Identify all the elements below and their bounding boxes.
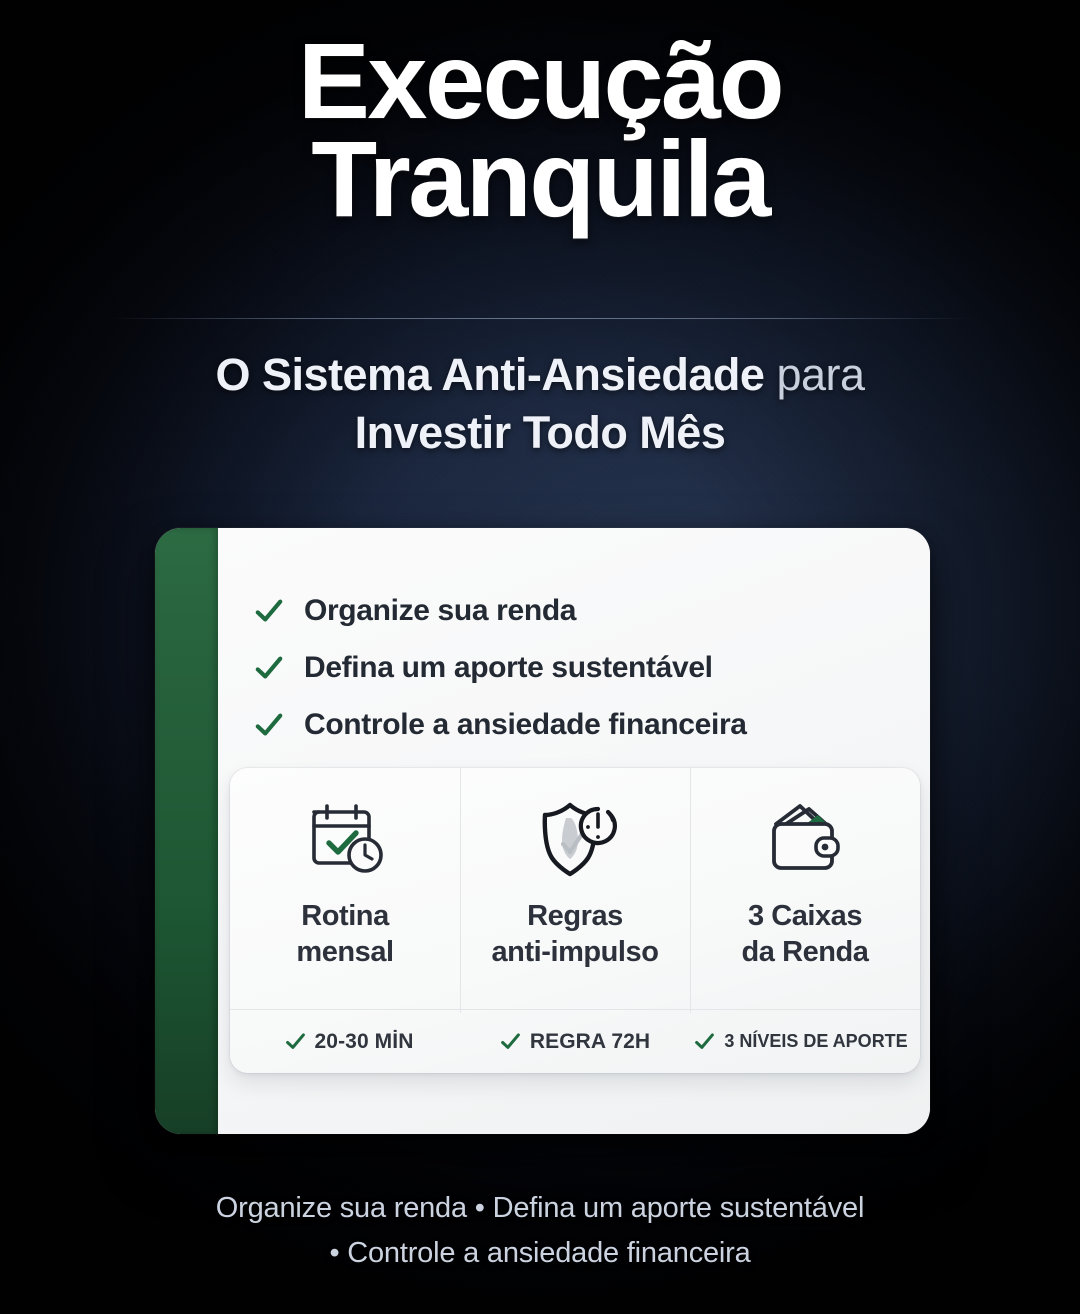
check-icon bbox=[500, 1031, 521, 1052]
feature-title-line-1: Regras bbox=[527, 900, 623, 932]
check-icon bbox=[694, 1031, 715, 1052]
check-icon bbox=[254, 653, 284, 683]
features-badge-row: 20-30 MİN REGRA 72H 3 NÍVEIS DE APORTE bbox=[230, 1009, 920, 1073]
checklist-label: Defina um aporte sustentável bbox=[304, 651, 713, 685]
feature-title-line-1: 3 Caixas bbox=[748, 900, 862, 932]
badge-label: 3 NÍVEIS DE APORTE bbox=[724, 1031, 907, 1052]
check-icon bbox=[254, 710, 284, 740]
checklist-label: Organize sua renda bbox=[304, 594, 576, 628]
check-icon bbox=[285, 1031, 306, 1052]
feature-card: Organize sua renda Defina um aporte sust… bbox=[155, 528, 930, 1134]
checklist-label: Controle a ansiedade financeira bbox=[304, 708, 747, 742]
subtitle-line-2: Investir Todo Mês bbox=[0, 404, 1080, 462]
feature-column-caixas: 3 Caixas da Renda bbox=[690, 784, 920, 1009]
feature-title-line-2: da Renda bbox=[742, 936, 869, 968]
feature-title: Rotina mensal bbox=[296, 898, 393, 970]
feature-title-line-2: mensal bbox=[296, 936, 393, 968]
footer-line-2: • Controle a ansiedade financeira bbox=[0, 1231, 1080, 1276]
feature-title: Regras anti-impulso bbox=[492, 898, 659, 970]
list-item: Organize sua renda bbox=[254, 582, 902, 639]
calendar-check-clock-icon bbox=[302, 794, 388, 886]
header-divider bbox=[110, 318, 970, 319]
status-badge: 20-30 MİN bbox=[236, 1030, 462, 1054]
features-panel: Rotina mensal bbox=[230, 768, 920, 1073]
list-item: Defina um aporte sustentável bbox=[254, 639, 902, 696]
card-accent-stripe bbox=[155, 528, 218, 1134]
feature-column-rotina: Rotina mensal bbox=[230, 784, 460, 1009]
page-title: Execução Tranquila bbox=[0, 32, 1080, 228]
check-icon bbox=[254, 596, 284, 626]
badge-label: REGRA 72H bbox=[530, 1030, 650, 1054]
feature-column-regras: Regras anti-impulso bbox=[460, 784, 690, 1009]
status-badge: REGRA 72H bbox=[462, 1030, 688, 1054]
status-badge: 3 NÍVEIS DE APORTE bbox=[688, 1031, 914, 1052]
page-title-line-1: Execução bbox=[0, 32, 1080, 130]
benefit-checklist: Organize sua renda Defina um aporte sust… bbox=[254, 582, 902, 753]
feature-title-line-2: anti-impulso bbox=[492, 936, 659, 968]
shield-check-timer-icon bbox=[532, 794, 618, 886]
subtitle-strong: O Sistema Anti-Ansiedade bbox=[215, 349, 764, 400]
footer-line-1: Organize sua renda • Defina um aporte su… bbox=[216, 1192, 864, 1224]
feature-title: 3 Caixas da Renda bbox=[742, 898, 869, 970]
badge-label: 20-30 MİN bbox=[315, 1030, 414, 1054]
page-title-line-2: Tranquila bbox=[0, 130, 1080, 228]
poster-stage: Execução Tranquila O Sistema Anti-Ansied… bbox=[0, 0, 1080, 1314]
wallet-cards-icon bbox=[762, 794, 848, 886]
page-subtitle: O Sistema Anti-Ansiedade para Investir T… bbox=[0, 346, 1080, 462]
list-item: Controle a ansiedade financeira bbox=[254, 696, 902, 753]
features-columns: Rotina mensal bbox=[230, 768, 920, 1009]
subtitle-light: para bbox=[764, 349, 864, 400]
feature-title-line-1: Rotina bbox=[301, 900, 389, 932]
card-body: Organize sua renda Defina um aporte sust… bbox=[218, 528, 930, 1134]
footer-caption: Organize sua renda • Defina um aporte su… bbox=[0, 1186, 1080, 1276]
